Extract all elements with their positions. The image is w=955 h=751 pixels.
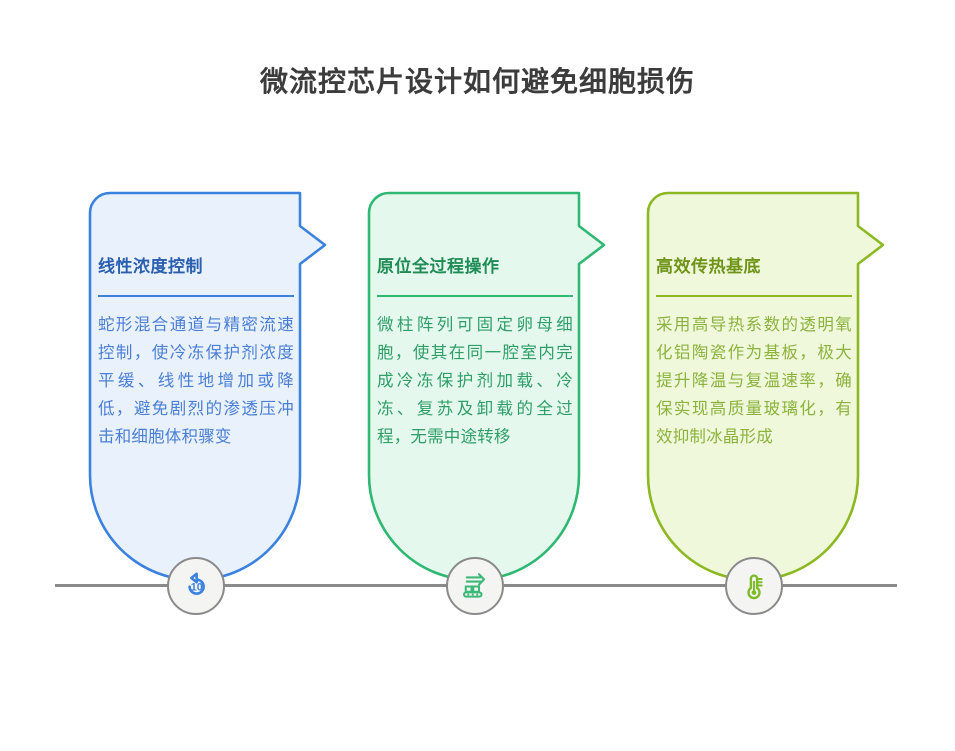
timeline-node-2[interactable] [446,557,504,615]
card-divider-1 [98,295,294,297]
timeline-node-3[interactable] [725,557,783,615]
svg-text:10: 10 [191,582,203,594]
page-title: 微流控芯片设计如何避免细胞损伤 [0,62,955,102]
card-title-2: 原位全过程操作 [377,255,573,279]
card-title-1: 线性浓度控制 [98,255,294,279]
infographic-root: 微流控芯片设计如何避免细胞损伤 线性浓度控制 蛇形混合通道与精密流速控制，使冷冻… [0,0,955,751]
replay-10-icon: 10 [181,571,211,601]
card-body-2: 微柱阵列可固定卵母细胞，使其在同一腔室内完成冷冻保护剂加载、冷冻、复苏及卸载的全… [377,311,573,451]
card-divider-3 [656,295,852,297]
card-content-3: 高效传热基底 采用高导热系数的透明氧化铝陶瓷作为基板，极大提升降温与复温速率，确… [656,255,852,451]
conveyor-belt-arrow-icon [460,571,490,601]
timeline-node-1[interactable]: 10 [167,557,225,615]
card-divider-2 [377,295,573,297]
card-content-2: 原位全过程操作 微柱阵列可固定卵母细胞，使其在同一腔室内完成冷冻保护剂加载、冷冻… [377,255,573,451]
card-body-3: 采用高导热系数的透明氧化铝陶瓷作为基板，极大提升降温与复温速率，确保实现高质量玻… [656,311,852,451]
card-body-1: 蛇形混合通道与精密流速控制，使冷冻保护剂浓度平缓、线性地增加或降低，避免剧烈的渗… [98,311,294,451]
card-content-1: 线性浓度控制 蛇形混合通道与精密流速控制，使冷冻保护剂浓度平缓、线性地增加或降低… [98,255,294,451]
card-title-3: 高效传热基底 [656,255,852,279]
thermometer-icon [739,571,769,601]
